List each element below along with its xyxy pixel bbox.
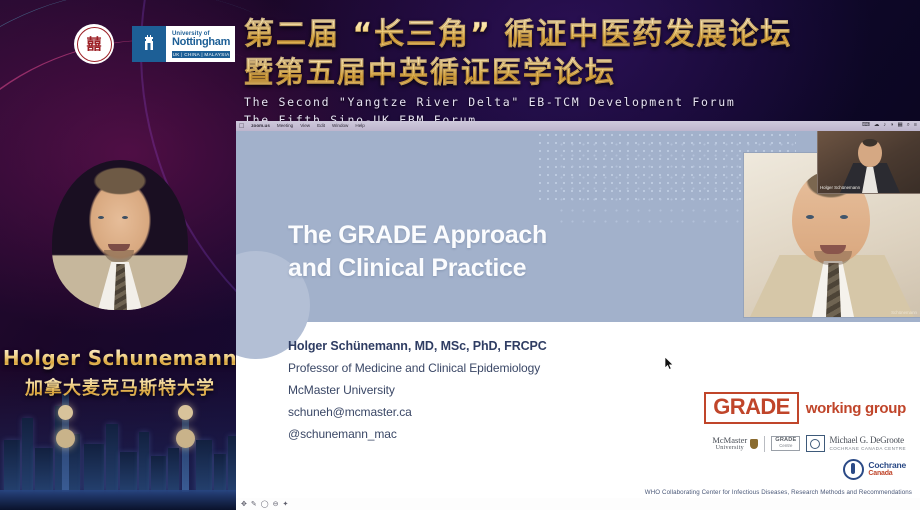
- byline-name: Holger Schünemann, MD, MSc, PhD, FRCPC: [288, 339, 547, 353]
- spotlight-tool-icon[interactable]: ✦: [282, 501, 288, 508]
- menubar-status-icons[interactable]: ⌨ ☁ ♪ ◑ ▦ ⌕ ≡: [862, 121, 917, 131]
- divider: [764, 436, 765, 452]
- cochrane-canada-logo: Cochrane Canada: [678, 459, 906, 480]
- menu-item-view[interactable]: View: [300, 124, 310, 129]
- spotlight-search-icon[interactable]: ⌕: [907, 123, 910, 129]
- degroote-line1: Michael G. DeGroote: [829, 436, 906, 446]
- slide-byline: Holger Schünemann, MD, MSc, PhD, FRCPC P…: [288, 339, 547, 449]
- conference-title: 第二届 “长三角” 循证中医药发展论坛 暨第五届中英循证医学论坛 The Sec…: [244, 16, 844, 128]
- conference-title-cn-1: 第二届 “长三角” 循证中医药发展论坛: [244, 16, 844, 54]
- conference-title-en-1: The Second "Yangtze River Delta" EB-TCM …: [244, 95, 844, 110]
- move-tool-icon[interactable]: ✥: [241, 501, 247, 508]
- pip-participant-name: Holger Schünemann: [820, 185, 860, 190]
- speaker-organization: 加拿大麦克马斯特大学: [0, 374, 240, 400]
- slide-title-line1: The GRADE Approach: [288, 219, 718, 252]
- mac-menubar[interactable]:  zoom.us Meeting View Edit Window Help …: [236, 121, 920, 131]
- degroote-logo: Michael G. DeGroote COCHRANE CANADA CENT…: [806, 435, 906, 452]
- wifi-icon[interactable]: ▦: [897, 123, 902, 129]
- grade-wordmark: GRADE: [713, 394, 789, 419]
- apple-menu-icon[interactable]: : [239, 123, 244, 130]
- byline-affiliation: McMaster University: [288, 383, 547, 397]
- nottingham-line3: UK | CHINA | MALAYSIA: [172, 51, 230, 58]
- speaker-name: Holger Schunemann: [0, 346, 240, 370]
- speaker-portrait: [52, 160, 188, 310]
- slide-footer-note: WHO Collaborating Center for Infectious …: [512, 489, 912, 496]
- menu-item-meeting[interactable]: Meeting: [277, 124, 293, 129]
- mcmaster-line2: University: [712, 445, 747, 451]
- grade-centre-line2: Centre: [775, 444, 796, 449]
- pen-tool-icon[interactable]: ✎: [251, 501, 257, 508]
- menu-item-edit[interactable]: Edit: [317, 124, 325, 129]
- shape-tool-icon[interactable]: ◯: [261, 501, 269, 508]
- mcmaster-logo: McMaster University: [712, 436, 758, 451]
- shared-screen-window:  zoom.us Meeting View Edit Window Help …: [236, 121, 920, 510]
- university-seal-logo: 囍: [74, 24, 114, 64]
- presentation-slide: The GRADE Approach and Clinical Practice…: [236, 131, 920, 510]
- keyboard-icon[interactable]: ⌨: [862, 123, 870, 129]
- slide-title-line2: and Clinical Practice: [288, 252, 718, 285]
- byline-role: Professor of Medicine and Clinical Epide…: [288, 361, 547, 375]
- menu-item-help[interactable]: Help: [355, 124, 364, 129]
- grade-centre-logo: GRADE Centre: [771, 436, 800, 450]
- grade-working-group-label: working group: [806, 400, 906, 417]
- control-center-icon[interactable]: ≡: [914, 123, 917, 129]
- battery-icon[interactable]: ◑: [890, 123, 893, 129]
- byline-email: schuneh@mcmaster.ca: [288, 405, 547, 419]
- volume-icon[interactable]: ♪: [883, 123, 886, 129]
- screen-root: 囍 University of Nottingham UK | CHINA | …: [0, 0, 920, 510]
- mouse-cursor: [665, 357, 674, 370]
- presenter-video-tag: Schünemann: [891, 310, 917, 315]
- mcmaster-shield-icon: [750, 439, 758, 449]
- cochrane-line2: Canada: [868, 470, 906, 478]
- menu-item-window[interactable]: Window: [332, 124, 348, 129]
- sponsor-logos: 囍 University of Nottingham UK | CHINA | …: [74, 24, 235, 64]
- cochrane-line1: Cochrane: [868, 461, 906, 470]
- partner-logos-row: McMaster University GRADE Centre Michael: [678, 435, 906, 452]
- nottingham-crest-icon: [132, 26, 166, 62]
- byline-twitter-handle: @schunemann_mac: [288, 427, 547, 441]
- nottingham-logo: University of Nottingham UK | CHINA | MA…: [132, 26, 235, 62]
- nottingham-line2: Nottingham: [172, 37, 230, 49]
- slide-annotation-toolbar[interactable]: ✥ ✎ ◯ ⊖ ✦: [236, 498, 920, 510]
- degroote-mark-icon: [806, 435, 825, 452]
- mcmaster-line1: McMaster: [712, 436, 747, 445]
- menu-item-zoom-us[interactable]: zoom.us: [251, 124, 270, 129]
- eraser-tool-icon[interactable]: ⊖: [273, 501, 279, 508]
- pip-video-tile[interactable]: Holger Schünemann: [817, 131, 920, 194]
- conference-title-cn-2: 暨第五届中英循证医学论坛: [244, 54, 844, 91]
- degroote-line2: COCHRANE CANADA CENTRE: [829, 446, 906, 451]
- slide-title: The GRADE Approach and Clinical Practice: [288, 219, 718, 285]
- cloud-icon[interactable]: ☁: [874, 123, 880, 129]
- grade-logo-block: GRADE working group McMaster University: [678, 392, 906, 480]
- cochrane-mark-icon: [843, 459, 864, 480]
- seal-mark: 囍: [86, 37, 101, 52]
- grade-logo-box: GRADE: [704, 392, 798, 424]
